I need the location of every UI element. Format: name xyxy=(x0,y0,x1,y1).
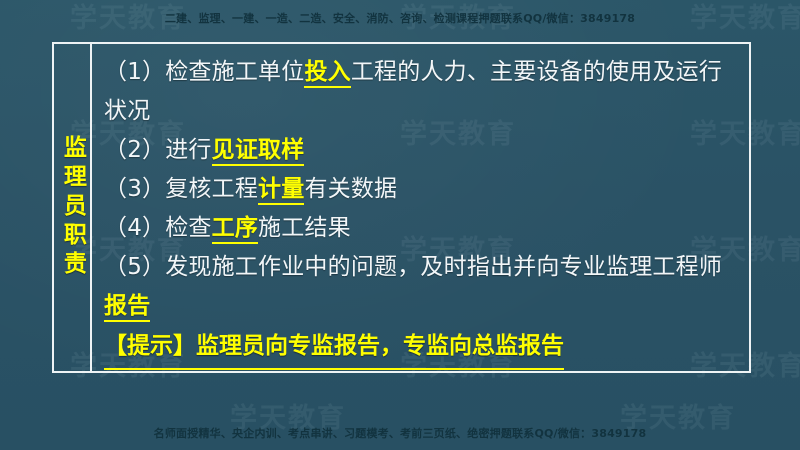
item-text: 复核工程 xyxy=(165,176,258,202)
highlighted-term: 计量 xyxy=(258,176,304,205)
table-content-cell: （1）检查施工单位投入工程的人力、主要设备的使用及运行状况（2）进行见证取样（3… xyxy=(92,44,749,371)
item-number: （2） xyxy=(104,137,165,163)
item-number: （4） xyxy=(104,215,165,241)
item-text: 发现施工作业中的问题，及时指出并向专业监理工程师 xyxy=(165,254,722,280)
row-title-vertical: 监理员职责 xyxy=(56,135,89,280)
item-text: 检查施工单位 xyxy=(165,59,304,85)
highlighted-term: 报告 xyxy=(104,293,150,322)
responsibility-item: （1）检查施工单位投入工程的人力、主要设备的使用及运行状况 xyxy=(104,53,741,131)
slide-canvas: 学天教育学天教育学天教育学天教育学天教育学天教育学天教育学天教育学天教育学天教育… xyxy=(0,0,800,450)
responsibility-item: （2）进行见证取样 xyxy=(104,131,741,170)
item-text: 进行 xyxy=(165,137,211,163)
item-text: 检查 xyxy=(165,215,211,241)
highlighted-term: 工序 xyxy=(212,215,258,244)
responsibility-item: （4）检查工序施工结果 xyxy=(104,209,741,248)
responsibility-item: （3）复核工程计量有关数据 xyxy=(104,170,741,209)
item-number: （5） xyxy=(104,254,165,280)
tip-row: 【提示】监理员向专监报告，专监向总监报告 xyxy=(104,326,741,370)
tip-text: 【提示】监理员向专监报告，专监向总监报告 xyxy=(104,326,564,370)
highlighted-term: 见证取样 xyxy=(212,137,305,166)
responsibility-item: （5）发现施工作业中的问题，及时指出并向专业监理工程师报告 xyxy=(104,248,741,326)
promo-bottom-text: 名师面授精华、央企内训、考点串讲、习题模考、考前三页纸、绝密押题联系QQ/微信：… xyxy=(0,425,800,441)
item-text: 有关数据 xyxy=(304,176,397,202)
item-number: （3） xyxy=(104,176,165,202)
responsibilities-table: 监理员职责 （1）检查施工单位投入工程的人力、主要设备的使用及运行状况（2）进行… xyxy=(52,42,751,373)
table-row-header-cell: 监理员职责 xyxy=(54,44,92,371)
responsibility-list: （1）检查施工单位投入工程的人力、主要设备的使用及运行状况（2）进行见证取样（3… xyxy=(104,53,741,326)
promo-top-text: 二建、监理、一建、一造、二造、安全、消防、咨询、检测课程押题联系QQ/微信：38… xyxy=(0,10,800,26)
highlighted-term: 投入 xyxy=(304,59,350,88)
item-number: （1） xyxy=(104,59,165,85)
item-text: 施工结果 xyxy=(258,215,351,241)
